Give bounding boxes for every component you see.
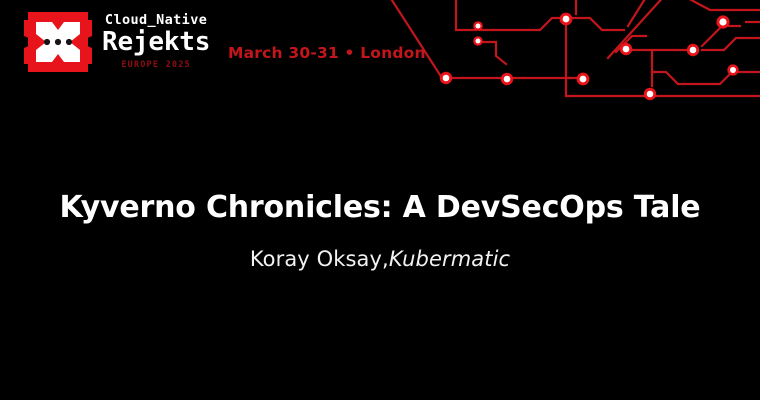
speaker-name: Koray Oksay, [250, 247, 389, 271]
circuit-trace-artwork [380, 0, 760, 110]
title-group: Kyverno Chronicles: A DevSecOps Tale Kor… [0, 190, 760, 272]
talk-title: Kyverno Chronicles: A DevSecOps Tale [0, 190, 760, 226]
brand-line-rejekts: Rejekts [102, 28, 210, 57]
event-brand-lockup: Cloud_Native Rejekts EUROPE 2025 [22, 8, 210, 80]
brand-line-cloud-native: Cloud_Native [105, 13, 207, 27]
speaker-line: Koray Oksay,Kubermatic [0, 247, 760, 272]
event-dateline: March 30-31 • London [228, 44, 426, 62]
brand-line-europe-2025: EUROPE 2025 [121, 61, 191, 70]
event-wordmark: Cloud_Native Rejekts EUROPE 2025 [102, 8, 210, 70]
speaker-organization: Kubermatic [389, 247, 510, 271]
circuit-nodes [440, 13, 739, 101]
presentation-slide: Cloud_Native Rejekts EUROPE 2025 March 3… [0, 0, 760, 400]
cloud-native-rejekts-logo-icon [22, 8, 94, 80]
